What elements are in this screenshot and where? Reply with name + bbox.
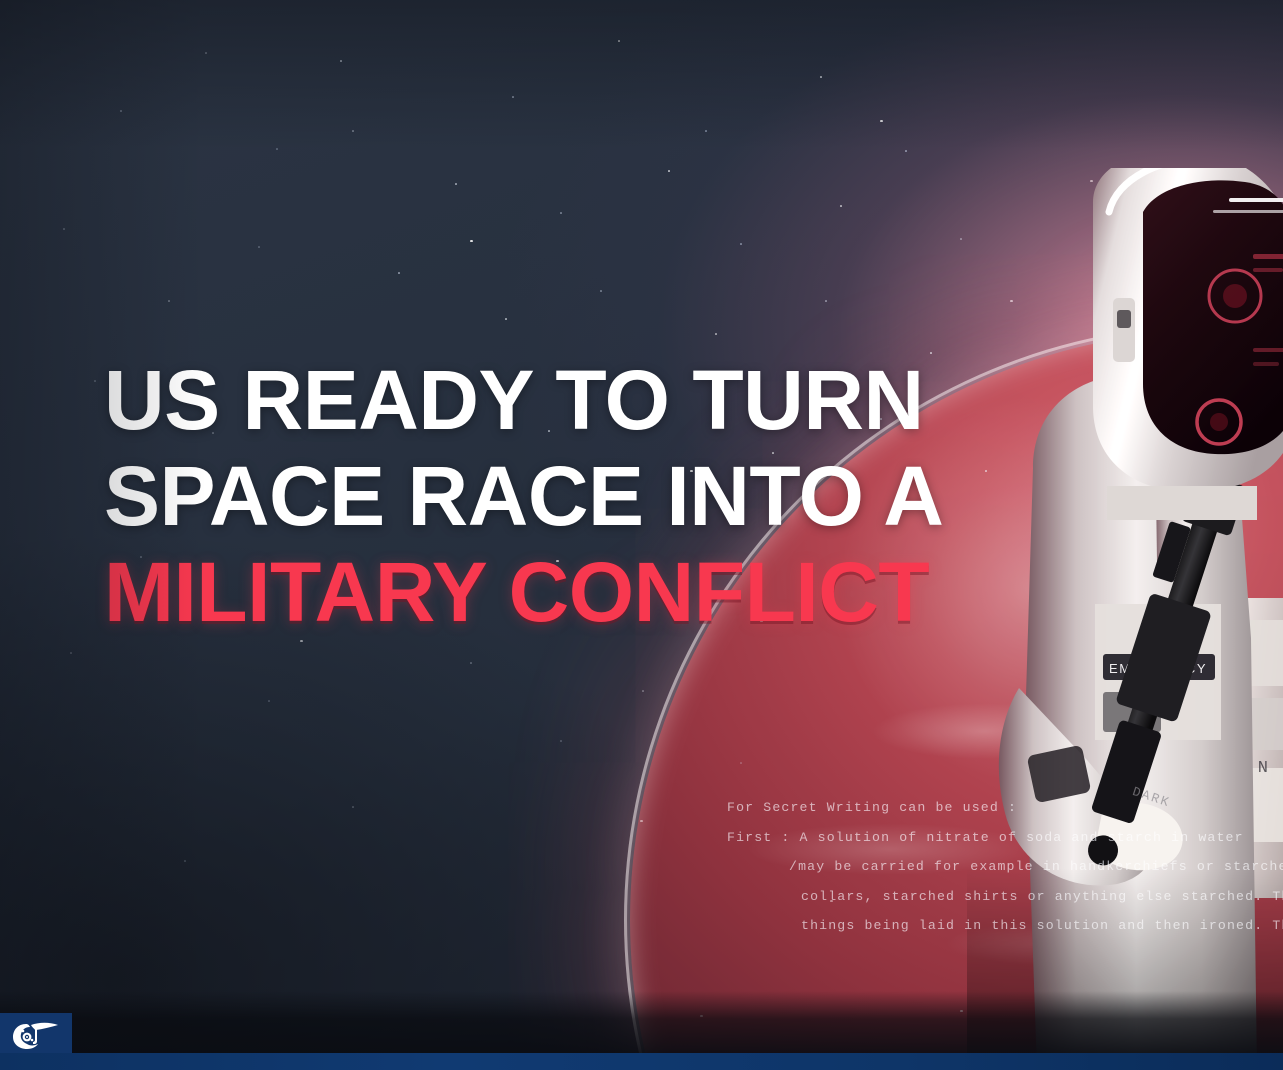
news-graphic-canvas: R D N EMERGENCY DARK bbox=[0, 0, 1283, 1070]
channel-logo bbox=[0, 1013, 72, 1055]
typewriter-overlay-text: For Secret Writing can be used : First :… bbox=[727, 793, 1283, 941]
bottom-brand-bar bbox=[0, 1053, 1283, 1070]
overlay-line-1: For Secret Writing can be used : bbox=[727, 793, 1283, 823]
overlay-line-5: things being laid in this solution and t… bbox=[727, 911, 1283, 941]
overlay-line-2: First : A solution of nitrate of soda an… bbox=[727, 823, 1283, 853]
headline-line-1: US READY TO TURN bbox=[104, 352, 1004, 448]
headline-line-3: MILITARY CONFLICT bbox=[104, 544, 1004, 640]
overlay-line-4: collars, starched shirts or anything els… bbox=[727, 882, 1283, 912]
headline-line-2: SPACE RACE INTO A bbox=[104, 448, 1004, 544]
al-mayadeen-logo-icon bbox=[12, 1018, 60, 1050]
overlay-line-3: /may be carried for example in handkerch… bbox=[727, 852, 1283, 882]
headline: US READY TO TURN SPACE RACE INTO A MILIT… bbox=[104, 352, 1004, 640]
